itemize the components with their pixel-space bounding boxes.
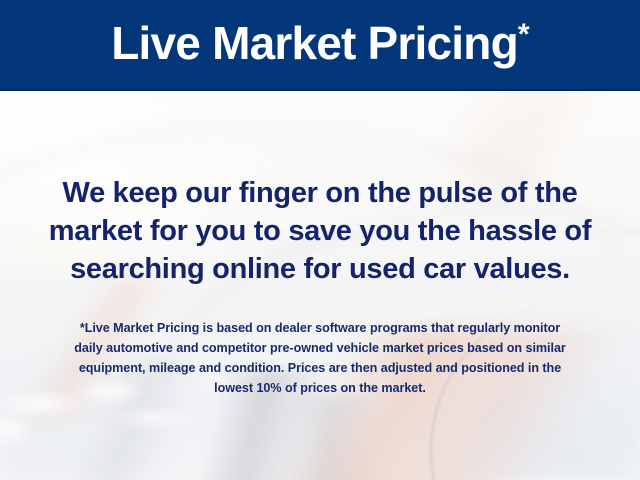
page-title: Live Market Pricing* — [111, 20, 529, 70]
page-title-text: Live Market Pricing — [111, 17, 518, 69]
header-banner: Live Market Pricing* — [0, 0, 640, 91]
disclaimer-block: *Live Market Pricing is based on dealer … — [0, 318, 640, 398]
headline-line-2: market for you to save you the hassle of — [0, 212, 640, 250]
disclaimer-line-2: daily automotive and competitor pre-owne… — [0, 338, 640, 358]
disclaimer-line-4: lowest 10% of prices on the market. — [0, 378, 640, 398]
page-title-asterisk: * — [518, 18, 529, 51]
disclaimer-line-1: *Live Market Pricing is based on dealer … — [0, 318, 640, 338]
headline-block: We keep our finger on the pulse of the m… — [0, 174, 640, 288]
headline-line-1: We keep our finger on the pulse of the — [0, 174, 640, 212]
disclaimer-line-3: equipment, mileage and condition. Prices… — [0, 358, 640, 378]
headline-line-3: searching online for used car values. — [0, 250, 640, 288]
live-market-pricing-banner: Live Market Pricing* We keep our finger … — [0, 0, 640, 480]
